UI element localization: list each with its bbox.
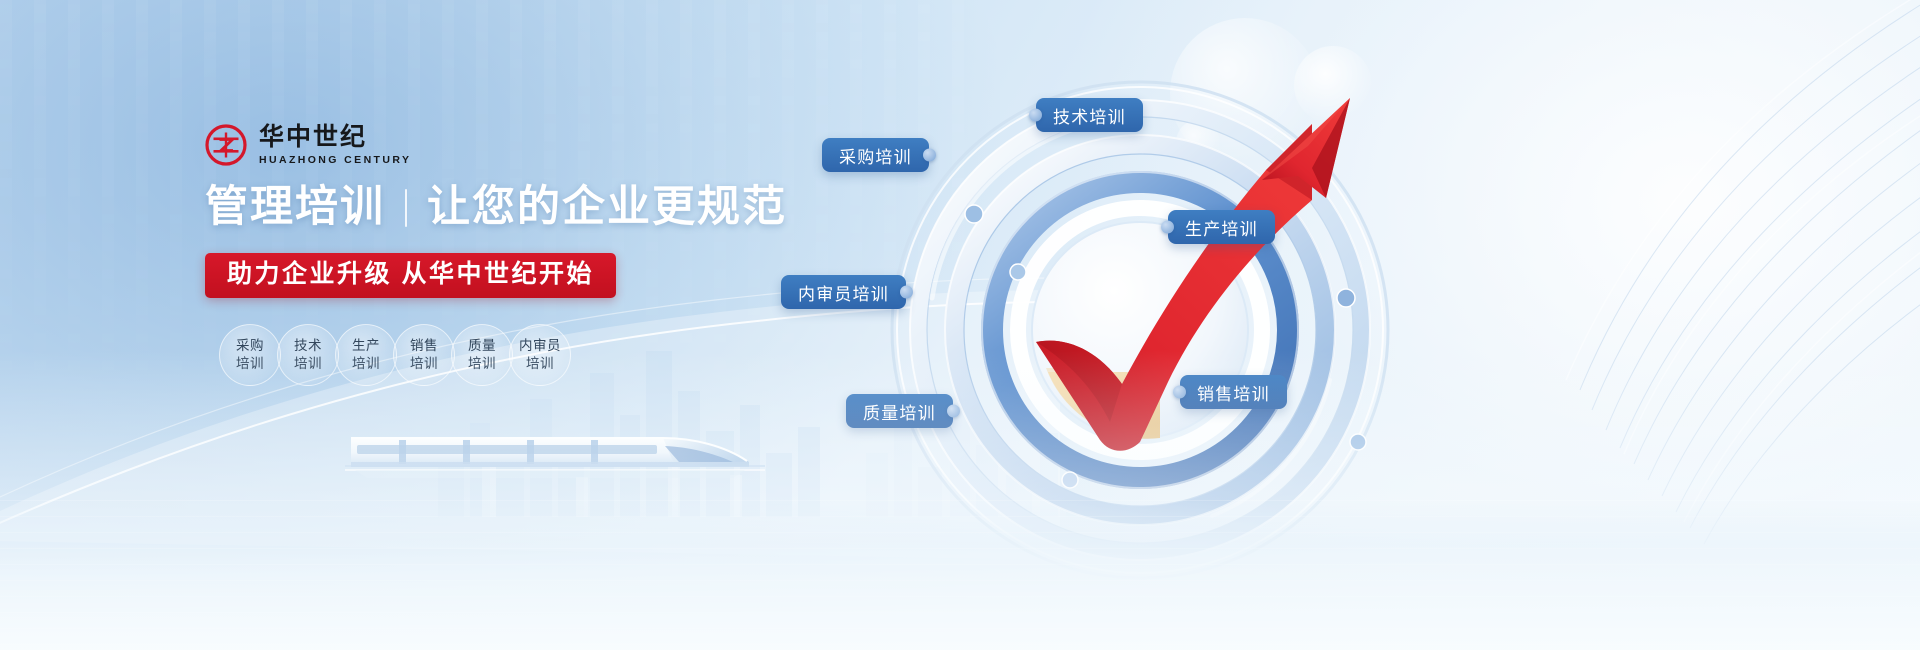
badge-label: 生产培训 — [1185, 215, 1258, 240]
badge-label: 销售培训 — [1197, 380, 1270, 405]
headline-main: 管理培训 — [205, 184, 385, 231]
huazhong-circle-logo-icon — [205, 124, 247, 166]
chip-line2: 培训 — [468, 355, 496, 373]
chip-sales-training[interactable]: 销售 培训 — [393, 324, 455, 386]
badge-label: 技术培训 — [1053, 103, 1126, 128]
brand-name-en: HUAZHONG CENTURY — [259, 155, 411, 166]
badge-tech-training[interactable]: 技术培训 — [1036, 98, 1143, 132]
chip-line2: 培训 — [294, 355, 322, 373]
badge-label: 质量培训 — [863, 399, 936, 424]
training-chip-list: 采购 培训 技术 培训 生产 培训 销售 培训 质量 培训 内审员 培训 — [219, 324, 945, 386]
chip-tech-training[interactable]: 技术 培训 — [277, 324, 339, 386]
page-title: 管理培训 让您的企业更规范 — [205, 184, 945, 231]
brand-name-cn: 华中世纪 — [259, 125, 411, 150]
badge-sales-training[interactable]: 销售培训 — [1180, 375, 1287, 409]
bullet-train-icon — [345, 412, 765, 482]
chip-line2: 培训 — [526, 355, 554, 373]
badge-quality-training[interactable]: 质量培训 — [846, 394, 953, 428]
chip-line2: 培训 — [236, 355, 264, 373]
tagline-ribbon: 助力企业升级 从华中世纪开始 — [205, 253, 616, 298]
headline-sub: 让您的企业更规范 — [427, 184, 787, 231]
chip-line2: 培训 — [352, 355, 380, 373]
chip-line1: 质量 — [468, 337, 496, 355]
brand-text: 华中世纪 HUAZHONG CENTURY — [259, 125, 411, 166]
chip-internal-audit-training[interactable]: 内审员 培训 — [509, 324, 571, 386]
chip-line1: 生产 — [352, 337, 380, 355]
chip-line1: 销售 — [410, 337, 438, 355]
chip-purchase-training[interactable]: 采购 培训 — [219, 324, 281, 386]
chip-line1: 采购 — [236, 337, 264, 355]
brand-lockup: 华中世纪 HUAZHONG CENTURY — [205, 124, 945, 166]
chip-line1: 技术 — [294, 337, 322, 355]
chip-quality-training[interactable]: 质量 培训 — [451, 324, 513, 386]
badge-production-training[interactable]: 生产培训 — [1168, 210, 1275, 244]
tagline-text: 助力企业升级 从华中世纪开始 — [227, 262, 594, 287]
chip-production-training[interactable]: 生产 培训 — [335, 324, 397, 386]
banner-stage: 技术培训 采购培训 生产培训 内审员培训 销售培训 质量培训 华中世纪 HUAZ… — [0, 0, 1920, 650]
chip-line1: 内审员 — [519, 337, 561, 355]
chip-line2: 培训 — [410, 355, 438, 373]
copy-block: 华中世纪 HUAZHONG CENTURY 管理培训 让您的企业更规范 助力企业… — [205, 124, 945, 386]
headline-divider — [405, 189, 407, 227]
